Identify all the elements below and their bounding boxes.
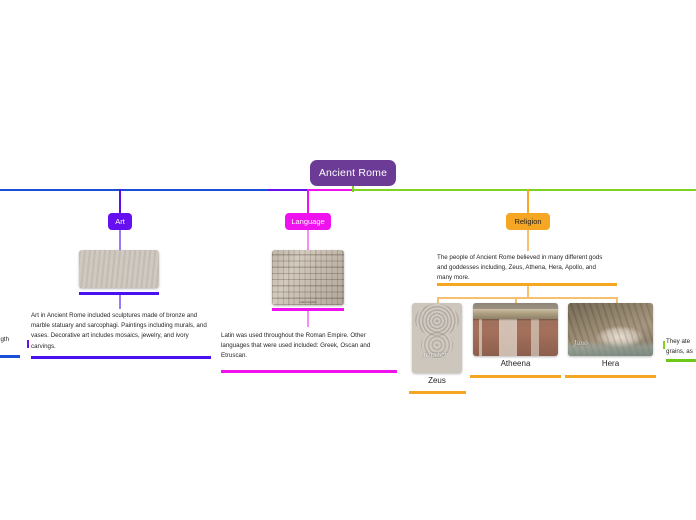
spine-segment-left-blue	[0, 189, 270, 191]
hera-card-label: Hera	[568, 359, 653, 368]
hera-image-water	[568, 303, 653, 356]
language-inscription-image-letters	[272, 250, 344, 305]
spine-segment-language-magenta	[307, 189, 353, 191]
atheena-image[interactable]: .	[473, 303, 558, 356]
hera-image[interactable]: Juno	[568, 303, 653, 356]
religion-connector-down	[527, 230, 529, 251]
right-clipped-line1: They ate	[666, 337, 690, 347]
language-connector-down	[307, 230, 309, 250]
branch-node-art[interactable]: Art	[108, 213, 132, 230]
root-stem-connector	[352, 186, 354, 192]
branch-node-art-label: Art	[115, 217, 125, 226]
language-inscription-image[interactable]: Latin Inscription	[272, 250, 344, 305]
left-clipped-connector	[27, 340, 29, 348]
art-relief-image[interactable]	[79, 250, 159, 288]
atheena-card-label: Atheena	[473, 359, 558, 368]
mindmap-canvas: Ancient Rome Art Art in Ancient Rome inc…	[0, 0, 696, 520]
atheena-image-architecture	[473, 319, 558, 356]
left-clipped-text: ngth	[0, 335, 9, 345]
art-connector-to-text	[119, 295, 121, 309]
religion-description-text: The people of Ancient Rome believed in m…	[437, 253, 609, 284]
art-connector-down	[119, 230, 121, 250]
language-connector-to-text	[307, 311, 309, 327]
right-clipped-line2: grains, as	[666, 347, 693, 357]
art-description-underline	[31, 356, 211, 359]
zeus-image[interactable]: Jupiter	[412, 303, 462, 373]
religion-connector-up	[527, 189, 529, 213]
spine-segment-right-green	[352, 189, 696, 191]
branch-node-language-label: Language	[291, 217, 324, 226]
right-clipped-connector	[663, 341, 665, 349]
language-inscription-image-caption: Latin Inscription	[272, 301, 344, 304]
atheena-image-entablature	[473, 309, 558, 319]
art-description-text: Art in Ancient Rome included sculptures …	[31, 311, 211, 352]
right-clipped-underline	[666, 359, 696, 362]
atheena-card-underline	[470, 375, 561, 378]
zeus-card-underline	[409, 391, 466, 394]
art-relief-image-shading	[79, 250, 159, 288]
branch-node-religion-label: Religion	[514, 217, 541, 226]
language-description-text: Latin was used throughout the Roman Empi…	[221, 331, 393, 362]
language-description-underline	[221, 370, 397, 373]
zeus-card-label: Zeus	[412, 376, 462, 385]
left-clipped-underline	[0, 355, 20, 358]
branch-node-religion[interactable]: Religion	[506, 213, 550, 230]
religion-cards-busbar	[437, 297, 617, 299]
root-node-ancient-rome[interactable]: Ancient Rome	[310, 160, 396, 186]
branch-node-language[interactable]: Language	[285, 213, 331, 230]
art-connector-up	[119, 189, 121, 213]
hera-card-underline	[565, 375, 656, 378]
root-node-label: Ancient Rome	[319, 167, 387, 179]
language-connector-up	[307, 189, 309, 213]
